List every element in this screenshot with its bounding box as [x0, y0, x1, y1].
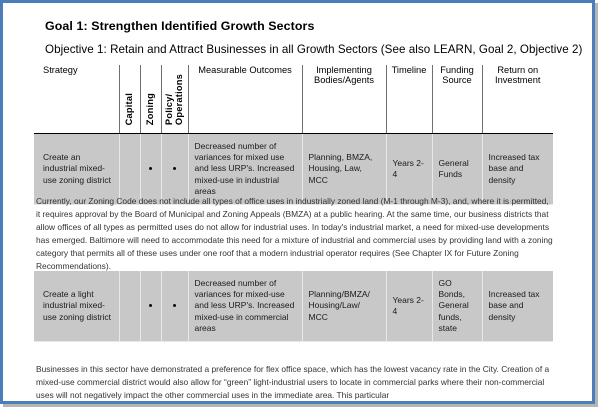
header-policy-operations-label: Policy/Operations — [165, 74, 185, 125]
header-zoning: Zoning — [140, 65, 161, 133]
cell-timeline: Years 2-4 — [386, 134, 432, 205]
header-policy-operations: Policy/Operations — [161, 65, 188, 133]
header-policy-operations-rotated: Policy/Operations — [162, 65, 188, 125]
paragraph-first-text: Currently, our Zoning Code does not incl… — [36, 195, 553, 273]
strategy-table-wrapper: Strategy Capital Zoning Pol — [34, 65, 553, 205]
header-measurable-outcomes-label: Measurable Outcomes — [198, 65, 292, 75]
header-roi-line1: Return on — [497, 65, 538, 75]
cell-timeline: Years 2-4 — [386, 271, 432, 342]
header-implementing-bodies: Implementing Bodies/Agents — [302, 65, 386, 133]
cell-capital — [119, 271, 140, 342]
cell-strategy: Create a light industrial mixed-use zoni… — [34, 271, 119, 342]
cell-measurable-outcomes: Decreased number of variances for mixed … — [188, 134, 302, 205]
cell-funding-source: GO Bonds, General funds, state — [432, 271, 482, 342]
cell-capital — [119, 134, 140, 205]
cell-implementing-bodies: Planning, BMZA, Housing, Law, MCC — [302, 134, 386, 205]
cell-return-on-investment: Increased tax base and density — [482, 271, 553, 342]
header-strategy: Strategy — [34, 65, 119, 133]
header-capital-label: Capital — [125, 93, 135, 125]
header-funding-source: Funding Source — [432, 65, 482, 133]
header-timeline-label: Timeline — [392, 65, 427, 75]
header-policy-line1: Policy/ — [164, 94, 174, 125]
cell-measurable-outcomes: Decreased number of variances for mixed-… — [188, 271, 302, 342]
header-roi-line2: Investment — [495, 75, 540, 85]
document-page: Goal 1: Strengthen Identified Growth Sec… — [0, 0, 595, 404]
strategy-table: Strategy Capital Zoning Pol — [34, 65, 553, 205]
table-row: Create an industrial mixed-use zoning di… — [34, 134, 553, 205]
strategy-table-2: Create a light industrial mixed-use zoni… — [34, 271, 553, 342]
header-zoning-rotated: Zoning — [141, 65, 161, 125]
paragraph-second-text: Businesses in this sector have demonstra… — [36, 363, 553, 402]
header-funding-line2: Source — [442, 75, 471, 85]
header-policy-line2: Operations — [175, 74, 185, 125]
cell-zoning: • — [140, 134, 161, 205]
cell-return-on-investment: Increased tax base and density — [482, 134, 553, 205]
header-zoning-label: Zoning — [146, 93, 156, 125]
objective-heading: Objective 1: Retain and Attract Business… — [45, 43, 582, 56]
cell-policy-operations: • — [161, 134, 188, 205]
cell-policy-operations: • — [161, 271, 188, 342]
header-strategy-label: Strategy — [43, 65, 78, 75]
header-capital: Capital — [119, 65, 140, 133]
header-measurable-outcomes: Measurable Outcomes — [188, 65, 302, 133]
cell-zoning: • — [140, 271, 161, 342]
header-return-on-investment: Return on Investment — [482, 65, 553, 133]
paragraph-first: Currently, our Zoning Code does not incl… — [36, 195, 553, 273]
cell-implementing-bodies: Planning/BMZA/ Housing/Law/ MCC — [302, 271, 386, 342]
header-funding-line1: Funding — [440, 65, 474, 75]
table-row: Create a light industrial mixed-use zoni… — [34, 271, 553, 342]
document-content: Goal 1: Strengthen Identified Growth Sec… — [3, 3, 592, 401]
table-header-row: Strategy Capital Zoning Pol — [34, 65, 553, 133]
goal-heading: Goal 1: Strengthen Identified Growth Sec… — [45, 19, 314, 33]
header-implementing-line1: Implementing — [316, 65, 372, 75]
header-timeline: Timeline — [386, 65, 432, 133]
header-implementing-line2: Bodies/Agents — [314, 75, 374, 85]
strategy-table-wrapper-2: Create a light industrial mixed-use zoni… — [34, 271, 553, 342]
cell-strategy: Create an industrial mixed-use zoning di… — [34, 134, 119, 205]
header-capital-rotated: Capital — [120, 65, 140, 125]
paragraph-second: Businesses in this sector have demonstra… — [36, 363, 553, 402]
cell-funding-source: General Funds — [432, 134, 482, 205]
